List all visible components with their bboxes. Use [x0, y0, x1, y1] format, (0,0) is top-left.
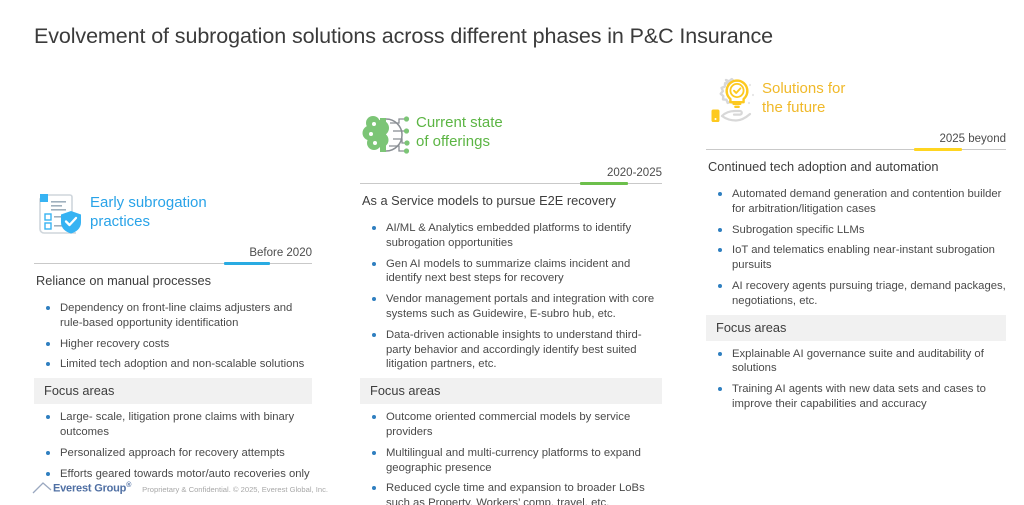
page-title: Evolvement of subrogation solutions acro…	[34, 24, 773, 49]
list-item: AI recovery agents pursuing triage, dema…	[714, 279, 1006, 309]
slide-canvas: Evolvement of subrogation solutions acro…	[0, 0, 1024, 505]
bullet-list-early: Dependency on front-line claims adjuster…	[34, 301, 312, 372]
section-heading-early: Reliance on manual processes	[34, 264, 312, 295]
list-item: Multilingual and multi-currency platform…	[368, 446, 662, 476]
list-item: Automated demand generation and contenti…	[714, 187, 1006, 217]
column-title-early: Early subrogation practices	[90, 193, 207, 231]
list-item: AI/ML & Analytics embedded platforms to …	[368, 221, 662, 251]
document-shield-icon	[34, 190, 88, 240]
bullet-list-future: Automated demand generation and contenti…	[706, 187, 1006, 309]
section-heading-future: Continued tech adoption and automation	[706, 150, 1006, 181]
phase-column-early: Early subrogation practices Before 2020 …	[34, 190, 312, 481]
bullet-list-current: AI/ML & Analytics embedded platforms to …	[360, 221, 662, 372]
focus-areas-band-future: Focus areas	[706, 315, 1006, 341]
focus-bullet-list-early: Large- scale, litigation prone claims wi…	[34, 410, 312, 481]
accent-segment-future	[914, 148, 962, 152]
section-heading-current: As a Service models to pursue E2E recove…	[360, 184, 662, 215]
list-item: Personalized approach for recovery attem…	[42, 446, 312, 461]
period-label-future: 2025 beyond	[939, 133, 1006, 145]
list-item: Training AI agents with new data sets an…	[714, 382, 1006, 412]
divider-rule-early	[34, 263, 312, 264]
focus-areas-band-early: Focus areas	[34, 378, 312, 404]
phase-column-future: Solutions for the future 2025 beyond Con…	[706, 76, 1006, 412]
list-item: Efforts geared towards motor/auto recove…	[42, 467, 312, 482]
list-item: Dependency on front-line claims adjuster…	[42, 301, 312, 331]
copyright-text: Proprietary & Confidential. © 2025, Ever…	[142, 485, 328, 495]
peak-mark-icon	[32, 481, 52, 495]
footer: Everest Group® Proprietary & Confidentia…	[32, 481, 328, 495]
logo-registered-mark: ®	[126, 482, 131, 489]
focus-areas-band-current: Focus areas	[360, 378, 662, 404]
list-item: Large- scale, litigation prone claims wi…	[42, 410, 312, 440]
list-item: Outcome oriented commercial models by se…	[368, 410, 662, 440]
column-header-future: Solutions for the future	[706, 76, 1006, 128]
list-item: Subrogation specific LLMs	[714, 223, 1006, 238]
column-title-line1: Early subrogation	[90, 193, 207, 212]
column-title-line1: Solutions for	[762, 79, 845, 98]
column-title-line2: of offerings	[416, 132, 503, 151]
list-item: Higher recovery costs	[42, 337, 312, 352]
phase-column-current: Current state of offerings 2020-2025 As …	[360, 110, 662, 505]
column-title-current: Current state of offerings	[416, 113, 503, 151]
accent-segment-early	[224, 262, 270, 266]
list-item: Reduced cycle time and expansion to broa…	[368, 481, 662, 505]
list-item: Data-driven actionable insights to under…	[368, 328, 662, 372]
list-item: IoT and telematics enabling near-instant…	[714, 243, 1006, 273]
logo-wordmark: Everest Group®	[53, 482, 131, 495]
period-row-early: Before 2020	[34, 242, 312, 264]
everest-group-logo: Everest Group®	[32, 481, 131, 495]
column-header-current: Current state of offerings	[360, 110, 662, 162]
column-title-line2: the future	[762, 98, 845, 117]
list-item: Explainable AI governance suite and audi…	[714, 347, 1006, 377]
column-header-early: Early subrogation practices	[34, 190, 312, 242]
column-title-line2: practices	[90, 212, 207, 231]
focus-bullet-list-current: Outcome oriented commercial models by se…	[360, 410, 662, 505]
period-row-future: 2025 beyond	[706, 128, 1006, 150]
list-item: Vendor management portals and integratio…	[368, 292, 662, 322]
logo-name: Everest Group	[53, 483, 126, 495]
ai-brain-circuit-icon	[360, 110, 414, 160]
accent-segment-current	[580, 182, 628, 186]
period-label-current: 2020-2025	[607, 167, 662, 179]
list-item: Limited tech adoption and non-scalable s…	[42, 357, 312, 372]
gear-lightbulb-hand-icon	[706, 76, 760, 126]
column-title-future: Solutions for the future	[762, 79, 845, 117]
list-item: Gen AI models to summarize claims incide…	[368, 257, 662, 287]
focus-bullet-list-future: Explainable AI governance suite and audi…	[706, 347, 1006, 412]
period-label-early: Before 2020	[249, 247, 312, 259]
period-row-current: 2020-2025	[360, 162, 662, 184]
column-title-line1: Current state	[416, 113, 503, 132]
